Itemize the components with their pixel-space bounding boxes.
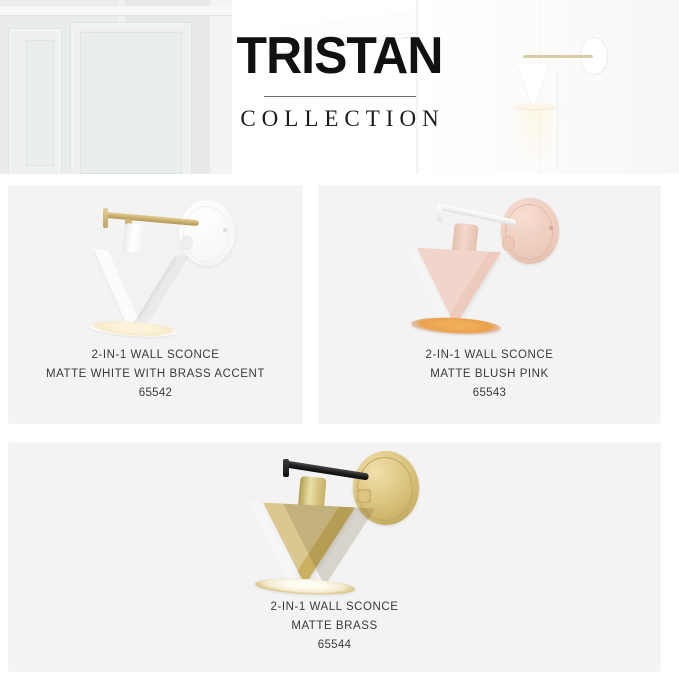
- product-sku: 65543: [319, 384, 660, 403]
- product-caption-65544: 2-IN-1 WALL SCONCE MATTE BRASS 65544: [9, 598, 660, 655]
- product-grid: 2-IN-1 WALL SCONCE MATTE WHITE WITH BRAS…: [0, 174, 679, 679]
- product-caption-65542: 2-IN-1 WALL SCONCE MATTE WHITE WITH BRAS…: [9, 346, 302, 403]
- product-finish: MATTE WHITE WITH BRASS ACCENT: [9, 365, 302, 384]
- product-name: 2-IN-1 WALL SCONCE: [9, 346, 302, 365]
- sconce-illustration-brass: [261, 449, 421, 599]
- product-card-65543[interactable]: 2-IN-1 WALL SCONCE MATTE BLUSH PINK 6554…: [318, 185, 661, 424]
- product-sku: 65542: [9, 384, 302, 403]
- sconce-arm-cap: [437, 204, 442, 222]
- switch-knob: [502, 236, 515, 251]
- product-image-65544: [9, 443, 660, 598]
- product-image-65542: [9, 186, 302, 346]
- sconce-arm-cap: [103, 208, 108, 228]
- collection-title: TRISTAN: [14, 28, 666, 84]
- product-caption-65543: 2-IN-1 WALL SCONCE MATTE BLUSH PINK 6554…: [319, 346, 660, 403]
- sconce-illustration-blush-pink: [415, 194, 565, 344]
- product-name: 2-IN-1 WALL SCONCE: [319, 346, 660, 365]
- switch-knob: [181, 236, 193, 250]
- product-card-65542[interactable]: 2-IN-1 WALL SCONCE MATTE WHITE WITH BRAS…: [8, 185, 303, 424]
- product-finish: MATTE BRASS: [9, 617, 660, 636]
- product-name: 2-IN-1 WALL SCONCE: [9, 598, 660, 617]
- screw-icon: [223, 228, 227, 232]
- sconce-arm-cap: [283, 459, 289, 477]
- product-sku: 65544: [9, 636, 660, 655]
- crown-molding: [0, 6, 232, 16]
- wall-plate-ring: [183, 206, 229, 262]
- collection-page: TRISTAN COLLECTION: [0, 0, 679, 679]
- screw-icon: [549, 226, 553, 230]
- product-image-65543: [319, 186, 660, 346]
- sconce-illustration-white: [87, 194, 237, 344]
- title-divider: [264, 96, 416, 97]
- screw-icon: [409, 481, 413, 486]
- switch-knob: [357, 489, 371, 503]
- product-finish: MATTE BLUSH PINK: [319, 365, 660, 384]
- collection-subtitle: COLLECTION: [0, 106, 679, 132]
- hero-banner: TRISTAN COLLECTION: [0, 0, 679, 174]
- wall-plate-ring: [505, 204, 553, 260]
- cone-shade-shadow: [279, 504, 375, 589]
- product-card-65544[interactable]: 2-IN-1 WALL SCONCE MATTE BRASS 65544: [8, 442, 661, 672]
- hero-text-block: TRISTAN COLLECTION: [0, 28, 679, 132]
- cone-shade-highlight: [401, 247, 489, 327]
